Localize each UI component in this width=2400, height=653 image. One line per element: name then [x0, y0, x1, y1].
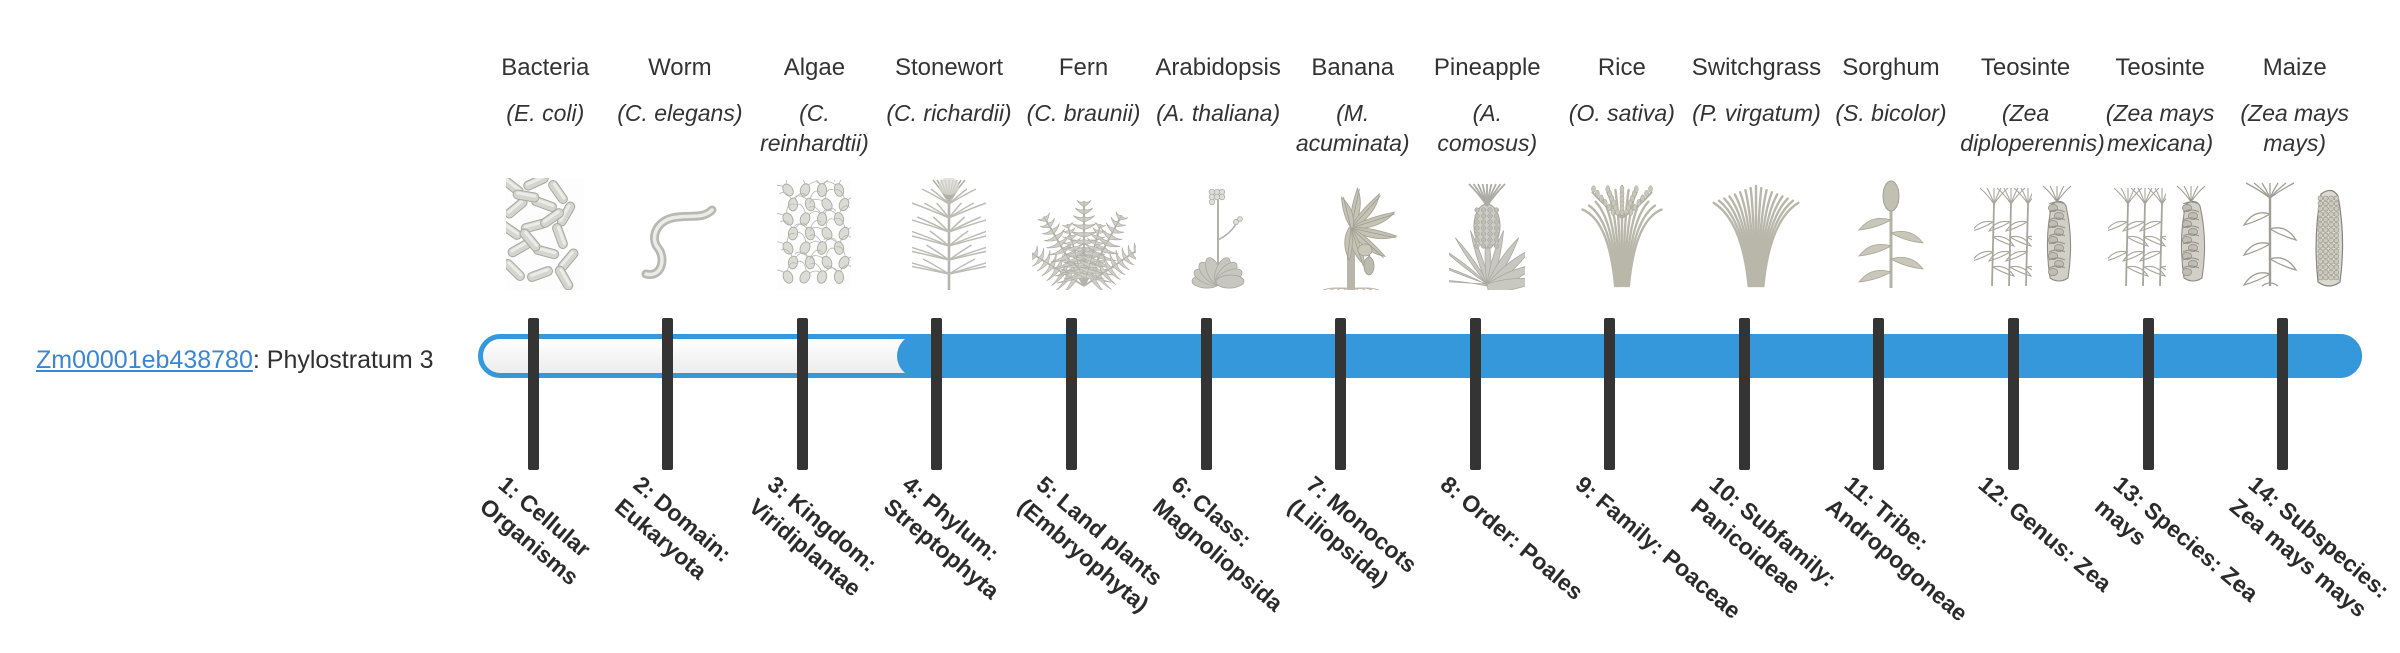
species-name-block: Stonewort(C. richardii): [882, 52, 1017, 128]
species-name-block: Teosinte(Zea diploperennis): [1958, 52, 2093, 158]
tick-mark: [2008, 318, 2019, 470]
species-scientific-name: (A. comosus): [1420, 98, 1555, 159]
tick-mark: [662, 318, 673, 470]
species-scientific-name: (S. bicolor): [1824, 98, 1959, 128]
species-common-name: Sorghum: [1824, 52, 1959, 84]
tick-mark: [1739, 318, 1750, 470]
species-name-block: Algae(C. reinhardtii): [747, 52, 882, 158]
tick-mark: [1470, 318, 1481, 470]
species-scientific-name: (C. braunii): [1016, 98, 1151, 128]
tick-mark: [931, 318, 942, 470]
tick-mark: [1066, 318, 1077, 470]
species-scientific-name: (O. sativa): [1555, 98, 1690, 128]
species-common-name: Bacteria: [478, 52, 613, 84]
species-name-block: Banana(M. acuminata): [1285, 52, 1420, 158]
teosinte-plant-ear-icon: [2093, 168, 2228, 290]
arabidopsis-icon: [1151, 168, 1286, 290]
species-scientific-name: (C. richardii): [882, 98, 1017, 128]
tick-mark: [797, 318, 808, 470]
species-scientific-name: (Zea mays mays): [2227, 98, 2362, 159]
stonewort-icon: [882, 168, 1017, 290]
gene-phylostratum-label: Zm00001eb438780: Phylostratum 3: [36, 345, 434, 376]
species-name-block: Worm(C. elegans): [613, 52, 748, 128]
species-scientific-name: (C. elegans): [613, 98, 748, 128]
species-common-name: Algae: [747, 52, 882, 84]
species-name-block: Bacteria(E. coli): [478, 52, 613, 128]
algae-cells-icon: [747, 168, 882, 290]
species-common-name: Switchgrass: [1689, 52, 1824, 84]
sorghum-icon: [1824, 168, 1959, 290]
species-common-name: Teosinte: [1958, 52, 2093, 84]
species-scientific-name: (P. virgatum): [1689, 98, 1824, 128]
species-scientific-name: (C. reinhardtii): [747, 98, 882, 159]
phylostratum-value: Phylostratum 3: [267, 346, 434, 374]
species-name-block: Arabidopsis(A. thaliana): [1151, 52, 1286, 128]
species-name-block: Maize(Zea mays mays): [2227, 52, 2362, 158]
species-common-name: Rice: [1555, 52, 1690, 84]
species-scientific-name: (A. thaliana): [1151, 98, 1286, 128]
nematode-worm-icon: [613, 168, 748, 290]
species-name-block: Teosinte(Zea mays mexicana): [2093, 52, 2228, 158]
teosinte-plant-ear-icon: [1958, 168, 2093, 290]
tick-mark: [1873, 318, 1884, 470]
species-scientific-name: (E. coli): [478, 98, 613, 128]
species-common-name: Stonewort: [882, 52, 1017, 84]
species-common-name: Arabidopsis: [1151, 52, 1286, 84]
tick-mark: [528, 318, 539, 470]
bacteria-rods-icon: [478, 168, 613, 290]
gene-label-separator: :: [253, 346, 267, 374]
tick-mark: [1201, 318, 1212, 470]
species-common-name: Maize: [2227, 52, 2362, 84]
species-common-name: Teosinte: [2093, 52, 2228, 84]
phylostratum-timeline: Zm00001eb438780: Phylostratum 3 Bacteria…: [0, 0, 2400, 580]
species-name-block: Rice(O. sativa): [1555, 52, 1690, 128]
species-common-name: Fern: [1016, 52, 1151, 84]
species-scientific-name: (Zea mays mexicana): [2093, 98, 2228, 159]
rice-plant-icon: [1555, 168, 1690, 290]
species-name-block: Pineapple(A. comosus): [1420, 52, 1555, 158]
banana-plant-icon: [1285, 168, 1420, 290]
species-common-name: Pineapple: [1420, 52, 1555, 84]
species-name-block: Sorghum(S. bicolor): [1824, 52, 1959, 128]
switchgrass-icon: [1689, 168, 1824, 290]
species-name-block: Switchgrass(P. virgatum): [1689, 52, 1824, 128]
species-scientific-name: (M. acuminata): [1285, 98, 1420, 159]
tick-mark: [2143, 318, 2154, 470]
tick-mark: [2277, 318, 2288, 470]
tick-mark: [1335, 318, 1346, 470]
maize-plant-ear-icon: [2227, 168, 2362, 290]
species-name-block: Fern(C. braunii): [1016, 52, 1151, 128]
species-scientific-name: (Zea diploperennis): [1958, 98, 2093, 159]
fern-icon: [1016, 168, 1151, 290]
species-common-name: Banana: [1285, 52, 1420, 84]
pineapple-icon: [1420, 168, 1555, 290]
species-common-name: Worm: [613, 52, 748, 84]
phylostratum-progress-bar[interactable]: [478, 334, 2362, 378]
tick-mark: [1604, 318, 1615, 470]
gene-id-link[interactable]: Zm00001eb438780: [36, 346, 253, 374]
